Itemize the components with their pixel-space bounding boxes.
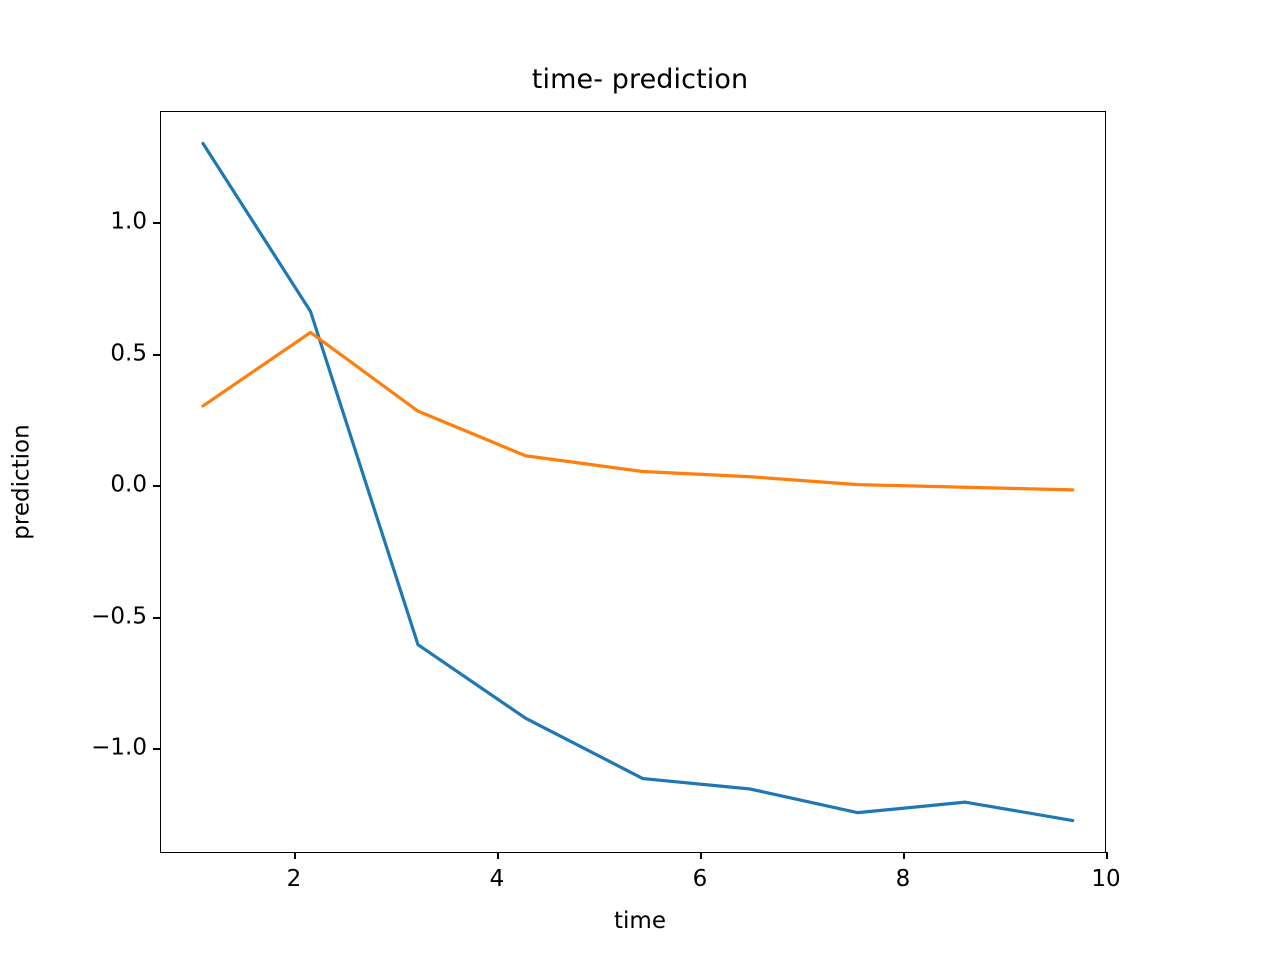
- chart-title: time- prediction: [0, 66, 1280, 93]
- y-tick-mark: [153, 485, 160, 487]
- y-tick-mark: [153, 748, 160, 750]
- x-tick-label: 8: [896, 868, 911, 891]
- x-tick-mark: [294, 852, 296, 859]
- x-tick-mark: [497, 852, 499, 859]
- data-line-series-1: [203, 143, 1073, 820]
- y-tick-label: −1.0: [91, 737, 147, 760]
- matplotlib-figure: time- prediction prediction time 1.0 0.5…: [0, 0, 1280, 960]
- y-tick-label: −0.5: [91, 606, 147, 629]
- y-tick-mark: [153, 222, 160, 224]
- x-axis-label: time: [0, 910, 1280, 933]
- y-tick-label: 0.0: [110, 474, 147, 497]
- x-tick-label: 6: [693, 868, 708, 891]
- x-tick-label: 2: [287, 868, 302, 891]
- y-axis-tick-labels: 1.0 0.5 0.0 −0.5 −1.0: [0, 0, 147, 960]
- plot-axes: [160, 111, 1106, 853]
- y-tick-label: 0.5: [110, 343, 147, 366]
- x-tick-mark: [903, 852, 905, 859]
- y-tick-label: 1.0: [110, 211, 147, 234]
- data-line-series-2: [203, 332, 1073, 489]
- x-tick-mark: [700, 852, 702, 859]
- x-tick-mark: [1106, 852, 1108, 859]
- plot-lines: [161, 112, 1105, 852]
- x-tick-label: 4: [490, 868, 505, 891]
- y-tick-mark: [153, 354, 160, 356]
- y-tick-mark: [153, 617, 160, 619]
- x-tick-label: 10: [1091, 868, 1120, 891]
